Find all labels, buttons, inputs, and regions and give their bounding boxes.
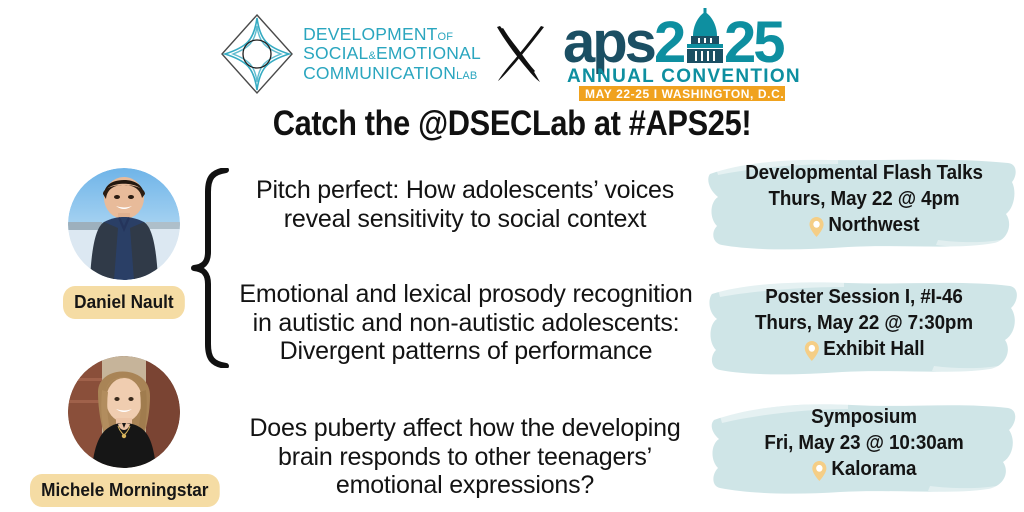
lab-line3: COMMUNICATION (303, 63, 456, 83)
name-badge-daniel-nault: Daniel Nault (63, 286, 185, 319)
name-badge-michele-morningstar: Michele Morningstar (30, 474, 220, 507)
session-datetime-1: Thurs, May 22 @ 4pm (717, 186, 1010, 212)
lab-line1: DEVELOPMENT (303, 24, 437, 44)
talk-title-1: Pitch perfect: How adolescents’ voices r… (225, 176, 705, 233)
location-pin-icon (804, 340, 820, 362)
header-logos: DEVELOPMENTOF SOCIAL&EMOTIONAL COMMUNICA… (0, 4, 1024, 104)
lab-wordmark-text: DEVELOPMENTOF SOCIAL&EMOTIONAL COMMUNICA… (303, 25, 481, 84)
capitol-dome-icon (687, 8, 723, 63)
talk-title-3: Does puberty affect how the developing b… (225, 414, 705, 500)
dsec-lab-logo: DEVELOPMENTOF SOCIAL&EMOTIONAL COMMUNICA… (219, 12, 481, 96)
diamond-star-logo-icon (219, 12, 295, 96)
person-daniel-nault: Daniel Nault (68, 168, 180, 280)
session-type-2: Poster Session I, #I-46 (717, 284, 1010, 310)
session-type-3: Symposium (717, 404, 1010, 430)
lab-line2b: EMOTIONAL (376, 43, 481, 63)
page-title: Catch the @DSECLab at #APS25! (61, 104, 962, 144)
aps-2025-logo: aps 2 25 ANNUAL CONVENTION MAY 22-25 I W… (559, 6, 805, 102)
session-datetime-3: Fri, May 23 @ 10:30am (717, 430, 1010, 456)
talk-title-2: Emotional and lexical prosody recognitio… (228, 280, 704, 366)
lab-line2a: SOCIAL (303, 43, 368, 63)
curly-brace-icon (188, 168, 230, 368)
session-block-1: Developmental Flash Talks Thurs, May 22 … (708, 152, 1020, 256)
lab-line2-amp: & (368, 50, 376, 62)
location-pin-icon (809, 216, 825, 238)
location-pin-icon (812, 460, 828, 482)
michele-morningstar-photo (68, 356, 180, 468)
session-block-3: Symposium Fri, May 23 @ 10:30am Kalorama (708, 396, 1020, 500)
person-michele-morningstar: Michele Morningstar (68, 356, 180, 468)
aps-banner: MAY 22-25 I WASHINGTON, D.C. (585, 87, 784, 101)
session-datetime-2: Thurs, May 22 @ 7:30pm (717, 310, 1010, 336)
session-location-1: Northwest (828, 212, 919, 238)
lab-line3-small: LAB (456, 70, 477, 82)
session-location-2: Exhibit Hall (823, 336, 924, 362)
lab-line1-small: OF (438, 31, 454, 43)
x-brush-separator-icon (491, 23, 549, 85)
daniel-nault-photo (68, 168, 180, 280)
aps-subtitle: ANNUAL CONVENTION (567, 66, 801, 87)
session-location-3: Kalorama (831, 456, 916, 482)
session-block-2: Poster Session I, #I-46 Thurs, May 22 @ … (708, 276, 1020, 380)
session-type-1: Developmental Flash Talks (717, 160, 1010, 186)
